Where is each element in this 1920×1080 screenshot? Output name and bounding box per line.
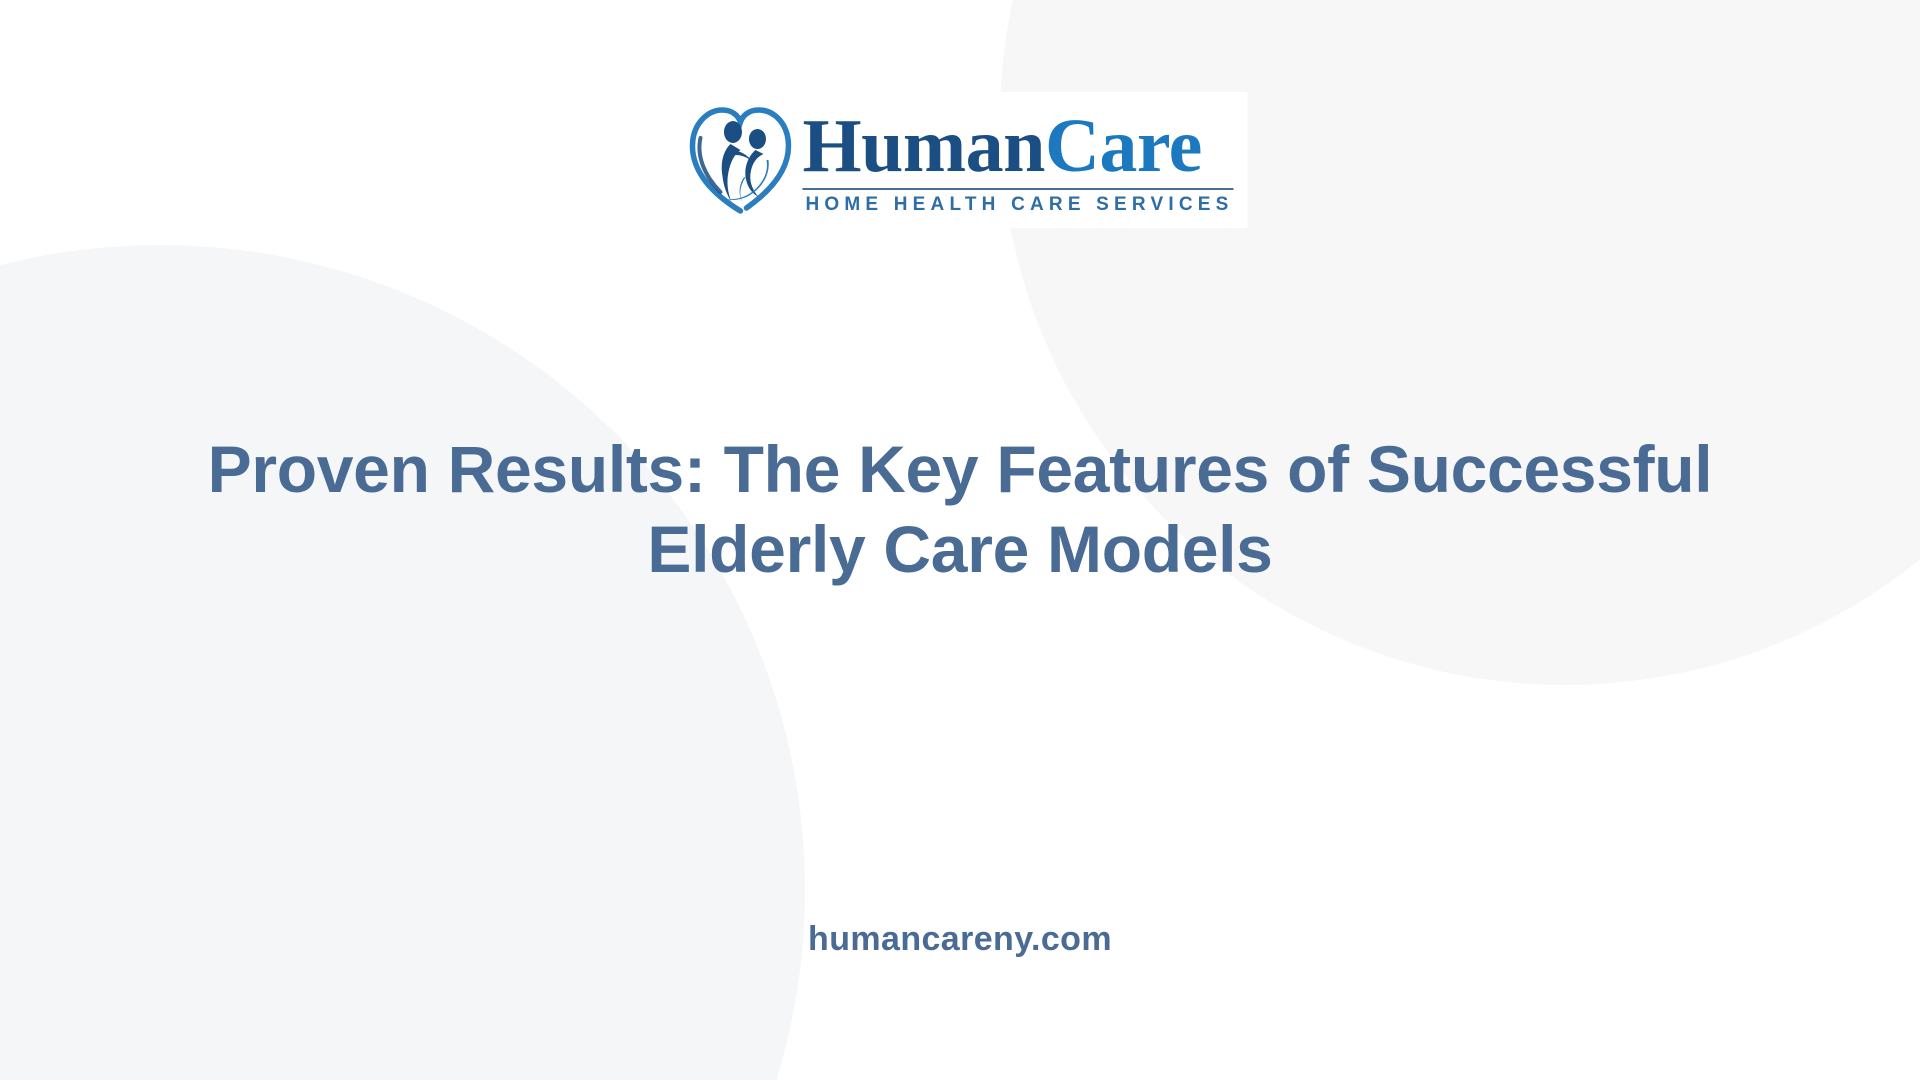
website-url[interactable]: humancareny.com [808, 920, 1112, 958]
logo-row: HumanCare HOME HEALTH CARE SERVICES [686, 98, 1233, 218]
logo-wordmark: HumanCare HOME HEALTH CARE SERVICES [802, 100, 1233, 216]
decorative-circle-left [0, 245, 805, 1080]
title-container: Proven Results: The Key Features of Succ… [180, 430, 1740, 590]
logo-divider [802, 188, 1233, 190]
presentation-slide: HumanCare HOME HEALTH CARE SERVICES Prov… [0, 0, 1920, 1080]
heart-with-two-figures-icon [686, 98, 794, 218]
footer-container: humancareny.com [808, 920, 1112, 959]
wordmark-human: Human [802, 104, 1044, 188]
wordmark-text: HumanCare [802, 110, 1233, 183]
brand-logo[interactable]: HumanCare HOME HEALTH CARE SERVICES [672, 92, 1247, 228]
page-title: Proven Results: The Key Features of Succ… [180, 430, 1740, 590]
logo-tagline: HOME HEALTH CARE SERVICES [802, 194, 1233, 216]
wordmark-care: Care [1045, 104, 1202, 188]
